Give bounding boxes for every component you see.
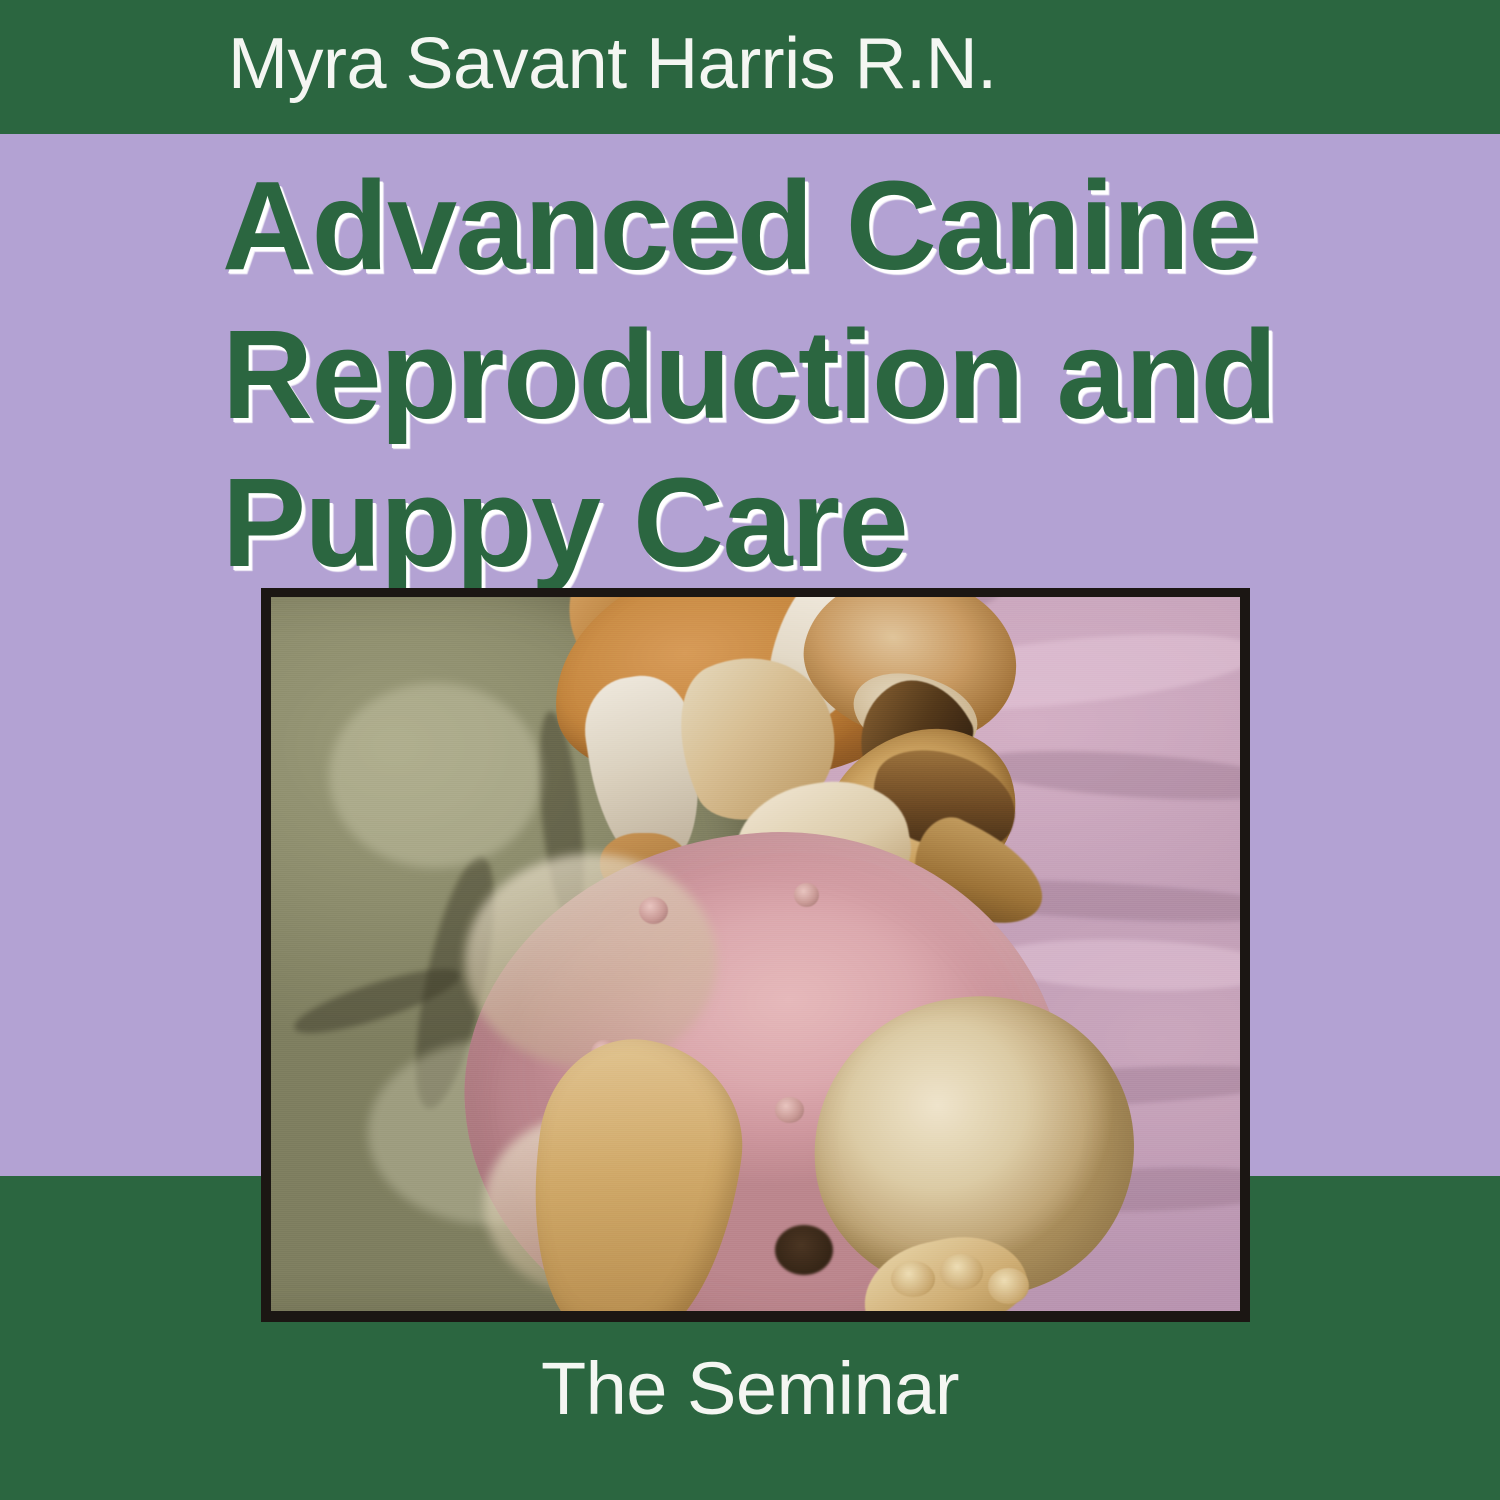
title-line-3: Puppy Care xyxy=(222,449,1342,598)
author-name: Myra Savant Harris R.N. xyxy=(228,28,1328,100)
book-cover: Myra Savant Harris R.N. Advanced Canine … xyxy=(0,0,1500,1500)
paw-toe xyxy=(891,1261,935,1297)
subtitle: The Seminar xyxy=(0,1352,1500,1426)
belly-fur-edge xyxy=(465,854,717,1068)
cover-photo xyxy=(271,597,1240,1311)
cover-photo-frame xyxy=(261,588,1250,1322)
cushion-highlight xyxy=(329,683,542,869)
book-title: Advanced Canine Reproduction and Puppy C… xyxy=(222,152,1342,598)
pregnant-dog-tail-base xyxy=(775,1225,833,1275)
title-line-2: Reproduction and xyxy=(222,301,1342,450)
paw-toe xyxy=(940,1254,984,1290)
title-line-1: Advanced Canine xyxy=(222,152,1342,301)
paw-toe xyxy=(988,1268,1029,1304)
nipple xyxy=(775,1097,804,1123)
